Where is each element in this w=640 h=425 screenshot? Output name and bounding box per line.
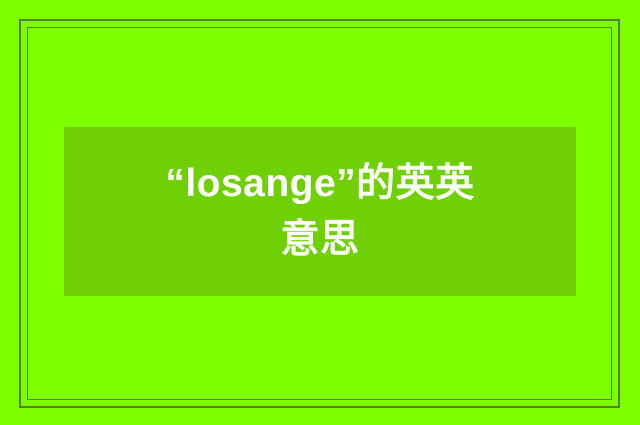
title-panel: “losange”的英英意思	[64, 127, 576, 296]
image-canvas: “losange”的英英意思	[0, 0, 640, 425]
page-title: “losange”的英英意思	[155, 156, 485, 267]
